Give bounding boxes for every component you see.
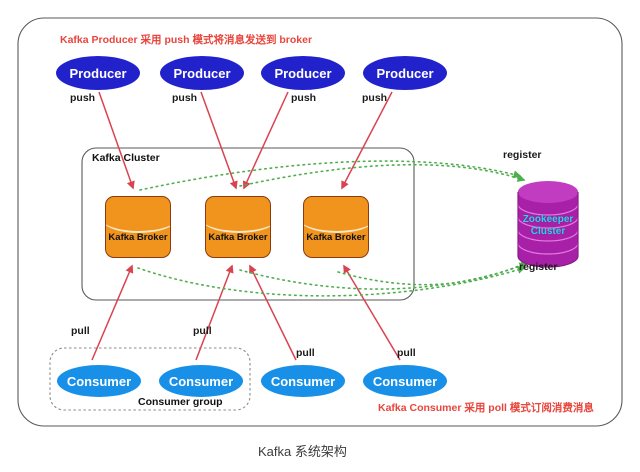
push-arrow-2 [201,92,236,188]
kafka-broker-label: Kafka Broker [208,232,267,243]
register-line-top-1 [140,161,520,190]
pull-arrow-2 [196,266,232,360]
push-arrow-3 [244,92,288,188]
push-arrow-1 [99,92,133,188]
consumer-node[interactable]: Consumer [159,365,243,397]
broker-arc-icon [205,201,271,233]
pull-label: pull [71,325,90,337]
register-line-bottom-2 [240,264,526,289]
consumer-annotation: Kafka Consumer 采用 poll 模式订阅消费消息 [378,400,594,415]
pull-arrows [92,266,400,360]
pull-arrow-3 [250,266,296,360]
kafka-broker-node[interactable]: Kafka Broker [303,196,369,258]
producer-node[interactable]: Producer [363,56,447,90]
push-label: push [291,92,316,104]
zookeeper-label-line1: Zookeeper [508,214,588,226]
pull-label: pull [397,347,416,359]
consumer-label: Consumer [271,374,335,389]
producer-label: Producer [173,66,230,81]
push-label: push [362,92,387,104]
producer-annotation: Kafka Producer 采用 push 模式将消息发送到 broker [60,32,312,47]
kafka-broker-label: Kafka Broker [306,232,365,243]
push-arrow-4 [342,92,392,188]
register-label: register [519,261,558,273]
producer-label: Producer [274,66,331,81]
push-arrows [99,92,392,188]
producer-label: Producer [376,66,433,81]
consumer-label: Consumer [169,374,233,389]
register-label: register [503,149,542,161]
consumer-group-label: Consumer group [138,396,223,408]
pull-label: pull [296,347,315,359]
pull-arrow-1 [92,266,132,360]
producer-node[interactable]: Producer [56,56,140,90]
consumer-label: Consumer [373,374,437,389]
producer-label: Producer [69,66,126,81]
zookeeper-cluster-label: Zookeeper Cluster [508,214,588,238]
producer-node[interactable]: Producer [261,56,345,90]
register-line-bottom-1 [138,268,524,296]
pull-label: pull [193,325,212,337]
push-label: push [172,92,197,104]
kafka-architecture-diagram: Producer Producer Producer Producer Kafk… [0,0,640,472]
push-label: push [70,92,95,104]
zookeeper-label-line2: Cluster [508,226,588,238]
kafka-broker-node[interactable]: Kafka Broker [205,196,271,258]
producer-node[interactable]: Producer [160,56,244,90]
diagram-caption: Kafka 系统架构 [258,441,347,460]
consumer-node[interactable]: Consumer [57,365,141,397]
kafka-cluster-label: Kafka Cluster [92,152,160,164]
consumer-node[interactable]: Consumer [363,365,447,397]
broker-arc-icon [105,201,171,233]
kafka-broker-node[interactable]: Kafka Broker [105,196,171,258]
consumer-node[interactable]: Consumer [261,365,345,397]
consumer-label: Consumer [67,374,131,389]
register-line-bottom-3 [338,262,528,285]
broker-arc-icon [303,201,369,233]
register-line-top-2 [240,165,524,186]
kafka-broker-label: Kafka Broker [108,232,167,243]
